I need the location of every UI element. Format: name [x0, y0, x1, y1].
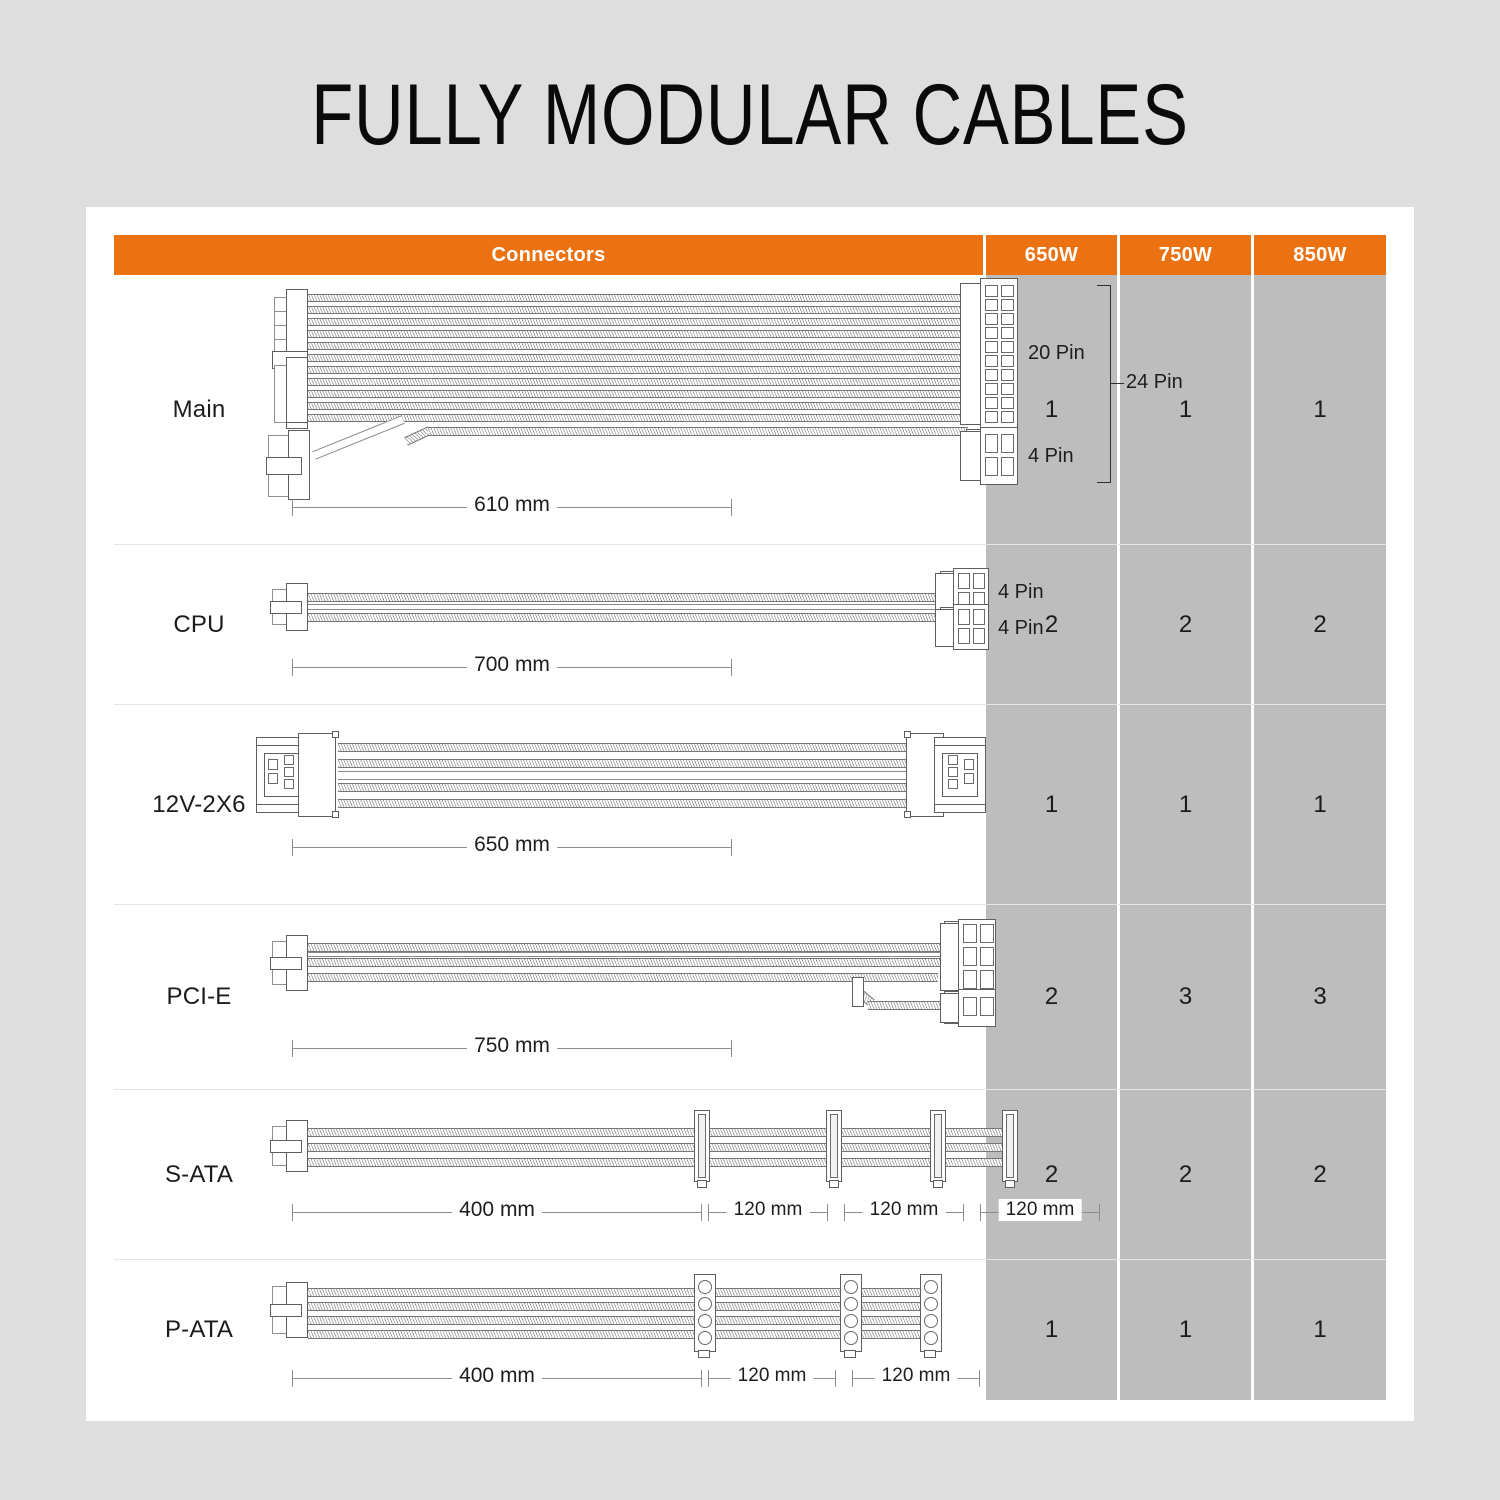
table-row-main: Main: [114, 275, 1386, 545]
qty-12v2x6-650w: 1: [986, 705, 1117, 904]
column-header-connectors: Connectors: [114, 235, 983, 275]
qty-12v2x6-850w: 1: [1254, 705, 1386, 904]
dimension-12v2x6: 650 mm: [292, 837, 732, 857]
dimension-label-sata-seg1: 120 mm: [727, 1199, 810, 1221]
table-body: Main: [114, 275, 1386, 1400]
dimension-label-main: 610 mm: [467, 493, 557, 517]
cable-diagram-12v2x6: 650 mm: [254, 705, 986, 904]
column-header-650w: 650W: [986, 235, 1117, 275]
dimension-label-sata-seg2: 120 mm: [863, 1199, 946, 1221]
dimension-label-pata-seg2: 120 mm: [875, 1365, 958, 1387]
cable-diagram-main: 20 Pin 4 Pin 24 Pin 610 mm: [254, 275, 986, 544]
qty-pata-850w: 1: [1254, 1260, 1386, 1400]
dimension-sata-seg2: 120 mm: [844, 1202, 964, 1222]
qty-sata-750w: 2: [1120, 1090, 1251, 1259]
dimension-pata-seg1: 120 mm: [708, 1368, 836, 1388]
dimension-label-sata-main: 400 mm: [452, 1198, 542, 1222]
column-header-850w: 850W: [1254, 235, 1386, 275]
dimension-sata-seg1: 120 mm: [708, 1202, 828, 1222]
cable-diagram-cpu: 4 Pin 4 Pin 700 mm: [254, 545, 986, 704]
qty-12v2x6-750w: 1: [1120, 705, 1251, 904]
dimension-pata-main: 400 mm: [292, 1368, 702, 1388]
table-row-12v2x6: 12V-2X6: [114, 705, 1386, 905]
dimension-label-pata-main: 400 mm: [452, 1364, 542, 1388]
cable-diagram-sata: 400 mm 120 mm: [254, 1090, 986, 1259]
dimension-label-pcie: 750 mm: [467, 1034, 557, 1058]
qty-pata-650w: 1: [986, 1260, 1117, 1400]
table-header: Connectors 650W 750W 850W: [114, 235, 1386, 275]
dimension-label-pata-seg1: 120 mm: [731, 1365, 814, 1387]
qty-cpu-850w: 2: [1254, 545, 1386, 704]
qty-sata-650w: 2: [986, 1090, 1117, 1259]
dimension-label-12v2x6: 650 mm: [467, 833, 557, 857]
qty-main-650w: 1: [986, 275, 1117, 544]
dimension-label-cpu: 700 mm: [467, 653, 557, 677]
dimension-main: 610 mm: [292, 497, 732, 517]
dimension-pcie: 750 mm: [292, 1038, 732, 1058]
dimension-pata-seg2: 120 mm: [852, 1368, 980, 1388]
table-row-sata: S-ATA: [114, 1090, 1386, 1260]
cable-spec-page: FULLY MODULAR CABLES Connectors 650W 750…: [0, 0, 1500, 1500]
spec-card: Connectors 650W 750W 850W Main: [86, 207, 1414, 1421]
qty-cpu-750w: 2: [1120, 545, 1251, 704]
table-row-pcie: PCI-E: [114, 905, 1386, 1090]
dimension-cpu: 700 mm: [292, 657, 732, 677]
qty-sata-850w: 2: [1254, 1090, 1386, 1259]
cable-diagram-pata: 400 mm 120 mm: [254, 1260, 986, 1400]
column-header-750w: 750W: [1120, 235, 1251, 275]
table-row-pata: P-ATA: [114, 1260, 1386, 1400]
qty-cpu-650w: 2: [986, 545, 1117, 704]
page-title: FULLY MODULAR CABLES: [150, 66, 1350, 165]
cable-diagram-pcie: 750 mm: [254, 905, 986, 1089]
qty-main-850w: 1: [1254, 275, 1386, 544]
qty-pcie-850w: 3: [1254, 905, 1386, 1089]
qty-pcie-750w: 3: [1120, 905, 1251, 1089]
connectors-table: Connectors 650W 750W 850W Main: [114, 235, 1386, 1400]
qty-main-750w: 1: [1120, 275, 1251, 544]
table-row-cpu: CPU: [114, 545, 1386, 705]
qty-pata-750w: 1: [1120, 1260, 1251, 1400]
qty-pcie-650w: 2: [986, 905, 1117, 1089]
dimension-sata-main: 400 mm: [292, 1202, 702, 1222]
